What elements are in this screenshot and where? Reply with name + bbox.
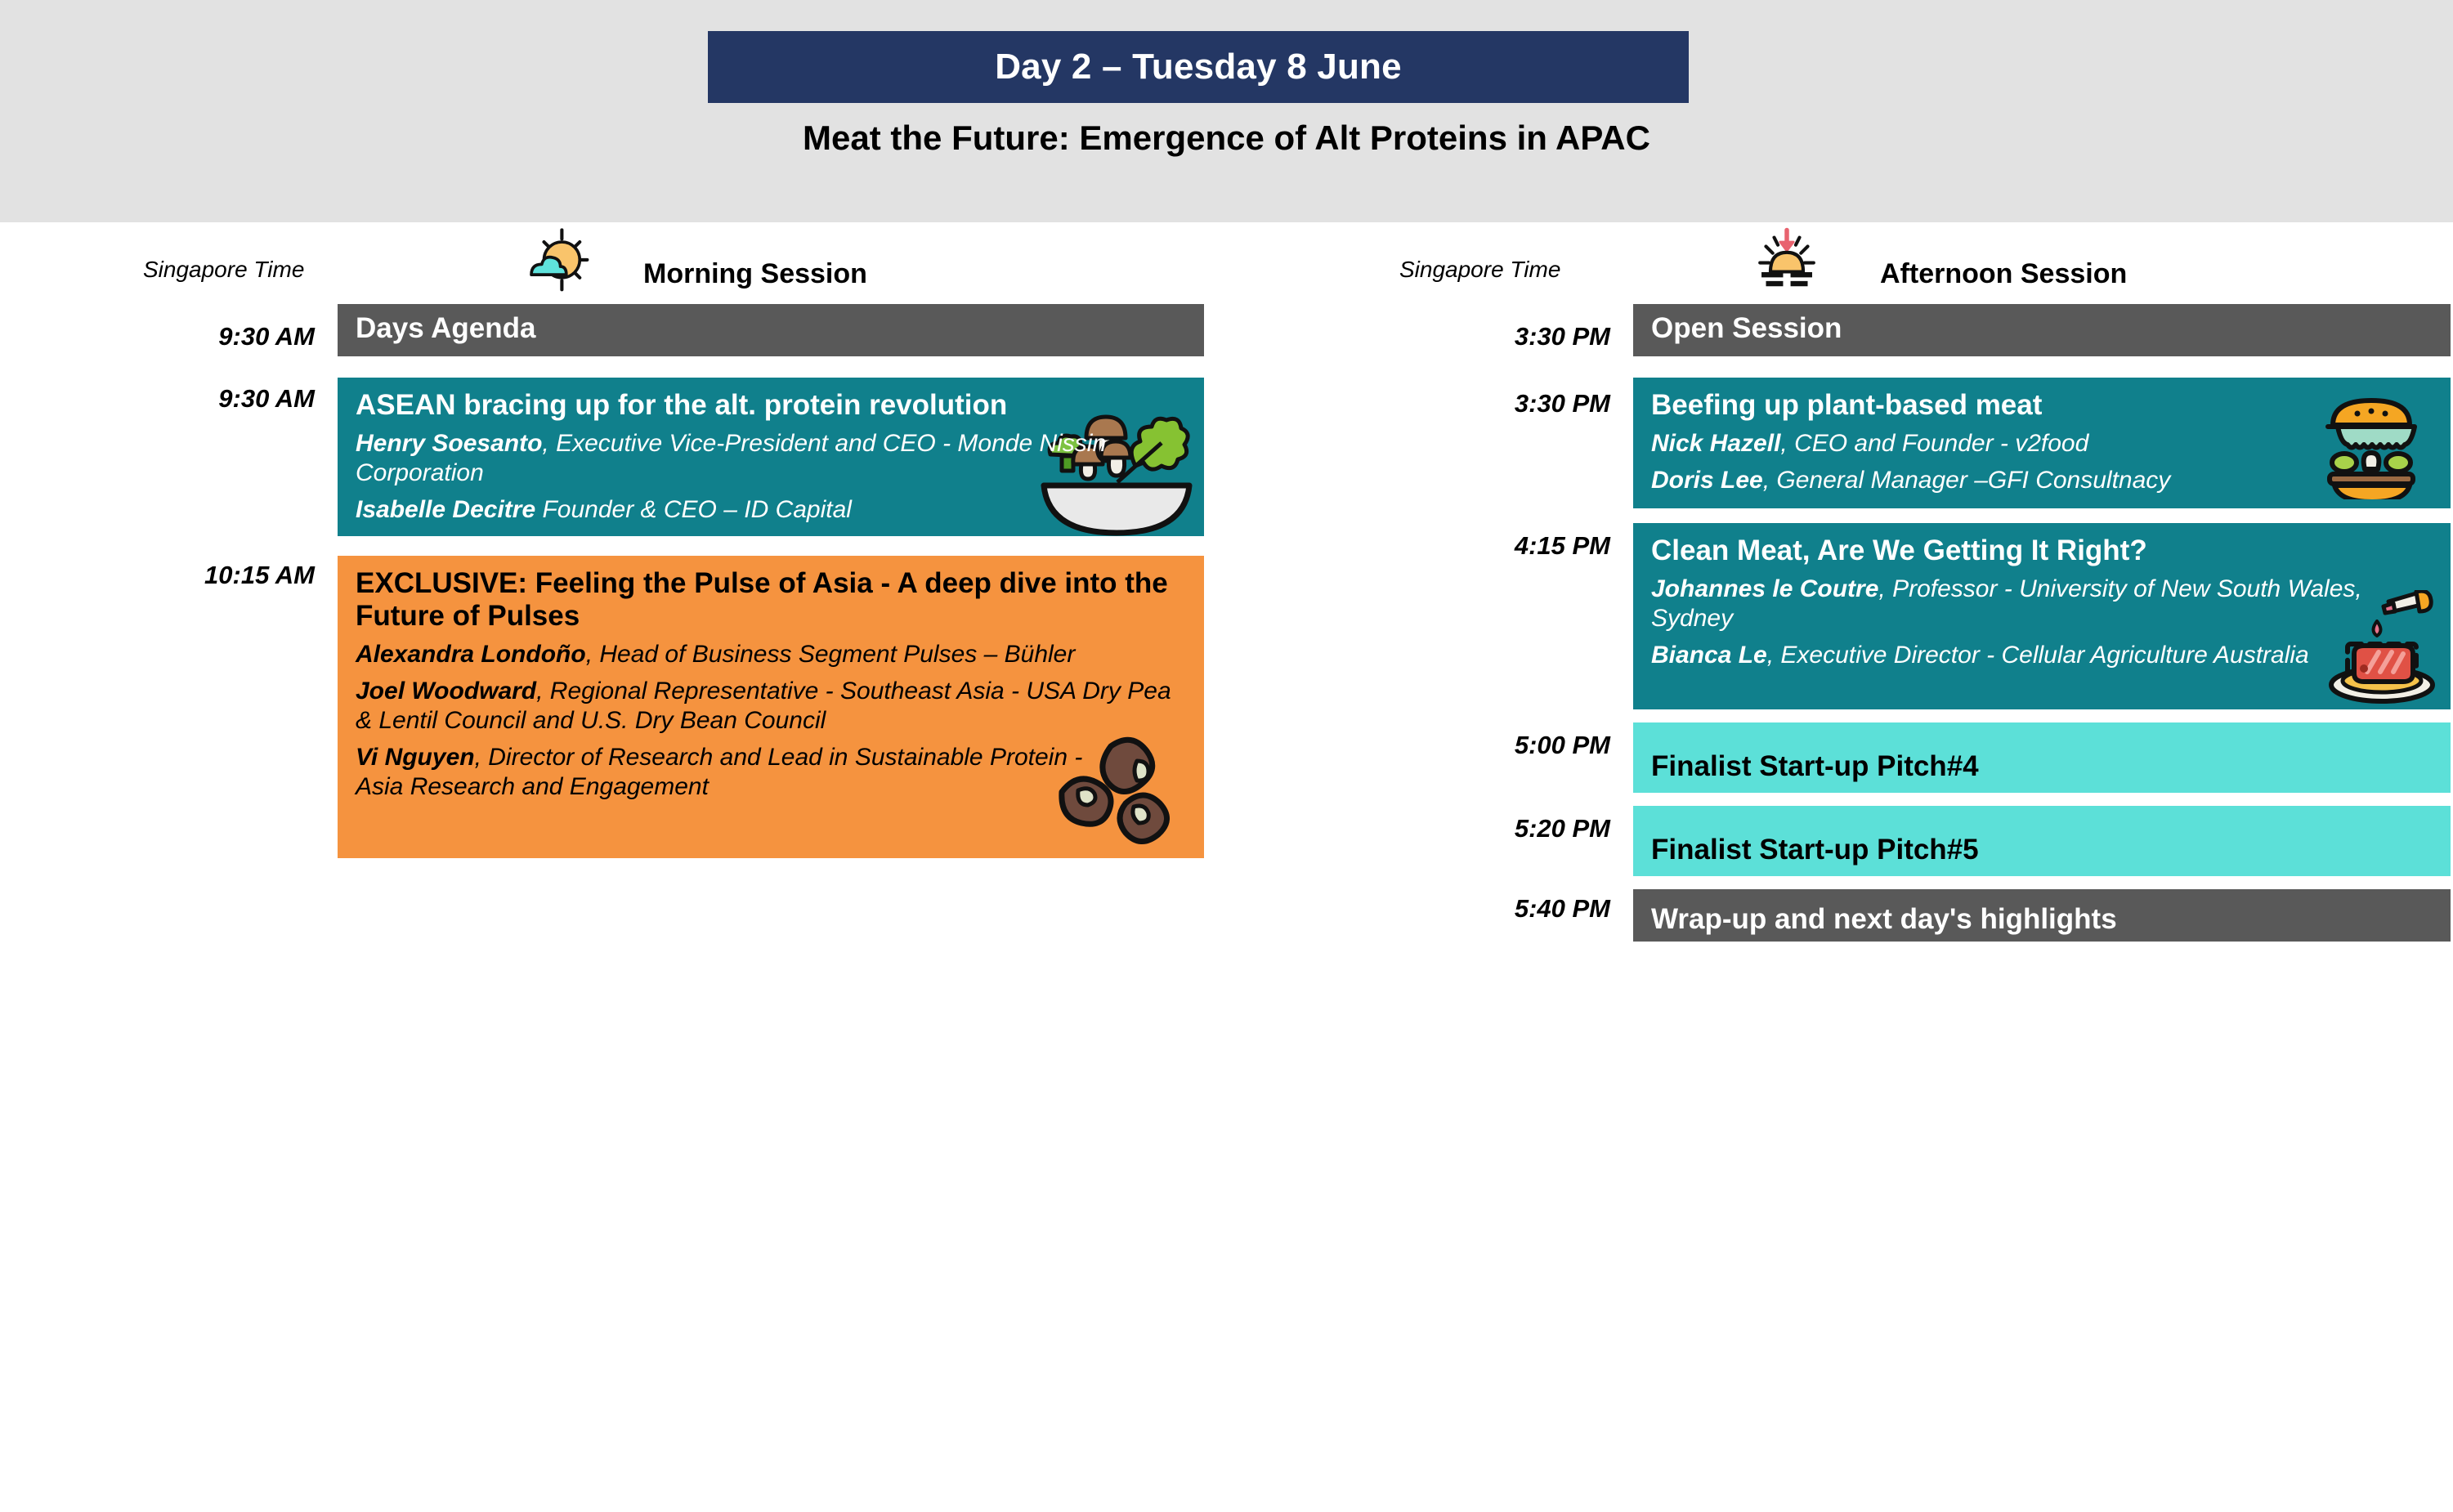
afternoon-session-header: Singapore Time Aftern xyxy=(1226,222,2453,304)
speaker-name: Alexandra Londoño xyxy=(356,641,586,668)
speaker-name: Henry Soesanto xyxy=(356,430,542,457)
session-block[interactable]: Finalist Start-up Pitch#5 xyxy=(1633,806,2451,876)
session-title: ASEAN bracing up for the alt. protein re… xyxy=(356,389,1186,422)
morning-session-header: Singapore Time Morning Session xyxy=(0,222,1226,304)
agenda-row[interactable]: 9:30 AM ASEAN bracing up for the alt. pr… xyxy=(0,378,1226,536)
afternoon-rows: 3:30 PM Open Session 3:30 PM Beefing up … xyxy=(1226,304,2453,948)
speaker-name: Isabelle Decitre xyxy=(356,496,535,523)
session-block[interactable]: Beefing up plant-based meat Nick Hazell,… xyxy=(1633,378,2451,508)
speaker-role: , CEO and Founder - v2food xyxy=(1780,430,2088,457)
session-block[interactable]: EXCLUSIVE: Feeling the Pulse of Asia - A… xyxy=(338,556,1204,858)
session-block[interactable]: ASEAN bracing up for the alt. protein re… xyxy=(338,378,1204,536)
agenda-row[interactable]: 5:40 PM Wrap-up and next day's highlight… xyxy=(1226,889,2453,948)
session-title: Finalist Start-up Pitch#4 xyxy=(1651,750,1979,783)
session-title: Finalist Start-up Pitch#5 xyxy=(1651,834,1979,866)
agenda-row[interactable]: 10:15 AM EXCLUSIVE: Feeling the Pulse of… xyxy=(0,556,1226,858)
session-title: Clean Meat, Are We Getting It Right? xyxy=(1651,535,2433,567)
row-time: 10:15 AM xyxy=(0,561,315,590)
agenda-row[interactable]: 9:30 AM Days Agenda xyxy=(0,304,1226,361)
speaker-name: Vi Nguyen xyxy=(356,744,475,771)
session-title: EXCLUSIVE: Feeling the Pulse of Asia - A… xyxy=(356,567,1186,633)
row-time: 9:30 AM xyxy=(0,322,315,351)
speaker-line: Bianca Le, Executive Director - Cellular… xyxy=(1651,641,2433,670)
speaker-name: Joel Woodward xyxy=(356,678,536,705)
row-time: 5:20 PM xyxy=(1226,814,1610,843)
timezone-label: Singapore Time xyxy=(143,257,304,283)
row-time: 9:30 AM xyxy=(0,384,315,414)
day-banner-label: Day 2 – Tuesday 8 June xyxy=(995,47,1402,87)
agenda-row[interactable]: 5:20 PM Finalist Start-up Pitch#5 xyxy=(1226,806,2453,876)
agenda-row[interactable]: 4:15 PM Clean Meat, Are We Getting It Ri… xyxy=(1226,523,2453,709)
row-time: 4:15 PM xyxy=(1226,531,1610,561)
speaker-line: Isabelle Decitre Founder & CEO – ID Capi… xyxy=(356,495,1186,525)
session-title: Beefing up plant-based meat xyxy=(1651,389,2433,422)
timezone-label: Singapore Time xyxy=(1399,257,1560,283)
afternoon-column: Singapore Time Aftern xyxy=(1226,222,2453,961)
sunset-icon xyxy=(1749,226,1824,293)
session-block[interactable]: Clean Meat, Are We Getting It Right? Joh… xyxy=(1633,523,2451,709)
speaker-name: Johannes le Coutre xyxy=(1651,575,1878,602)
session-block[interactable]: Finalist Start-up Pitch#4 xyxy=(1633,722,2451,793)
row-time: 3:30 PM xyxy=(1226,322,1610,351)
speaker-role: , Head of Business Segment Pulses – Bühl… xyxy=(586,641,1076,668)
speaker-role: Founder & CEO – ID Capital xyxy=(535,496,852,523)
speaker-name: Doris Lee xyxy=(1651,467,1763,494)
speaker-line: Henry Soesanto, Executive Vice-President… xyxy=(356,429,1186,488)
speaker-line: Vi Nguyen, Director of Research and Lead… xyxy=(356,743,1186,802)
speaker-line: Johannes le Coutre, Professor - Universi… xyxy=(1651,575,2433,633)
session-block[interactable]: Open Session xyxy=(1633,304,2451,356)
session-block[interactable]: Days Agenda xyxy=(338,304,1204,356)
speaker-role: , Executive Director - Cellular Agricult… xyxy=(1767,642,2309,669)
day-banner: Day 2 – Tuesday 8 June xyxy=(708,31,1689,103)
speaker-line: Nick Hazell, CEO and Founder - v2food xyxy=(1651,429,2433,459)
speaker-line: Joel Woodward, Regional Representative -… xyxy=(356,677,1186,736)
agenda-row[interactable]: 3:30 PM Beefing up plant-based meat Nick… xyxy=(1226,378,2453,508)
session-block[interactable]: Wrap-up and next day's highlights xyxy=(1633,889,2451,942)
speaker-role: , General Manager –GFI Consultnacy xyxy=(1763,467,2171,494)
row-time: 5:40 PM xyxy=(1226,894,1610,924)
morning-rows: 9:30 AM Days Agenda 9:30 AM ASEAN bracin… xyxy=(0,304,1226,858)
row-time: 3:30 PM xyxy=(1226,389,1610,418)
session-title: Wrap-up and next day's highlights xyxy=(1651,903,2117,936)
session-title: Open Session xyxy=(1651,312,1842,345)
session-name: Afternoon Session xyxy=(1880,258,2127,290)
speaker-name: Nick Hazell xyxy=(1651,430,1780,457)
agenda-row[interactable]: 5:00 PM Finalist Start-up Pitch#4 xyxy=(1226,722,2453,793)
event-title: Meat the Future: Emergence of Alt Protei… xyxy=(0,119,2453,158)
session-title: Days Agenda xyxy=(356,312,535,345)
speaker-line: Doris Lee, General Manager –GFI Consultn… xyxy=(1651,466,2433,495)
speaker-name: Bianca Le xyxy=(1651,642,1767,669)
morning-column: Singapore Time Morning Session 9:30 AM xyxy=(0,222,1226,871)
agenda-row[interactable]: 3:30 PM Open Session xyxy=(1226,304,2453,361)
session-name: Morning Session xyxy=(643,258,867,290)
sun-cloud-icon xyxy=(519,226,594,293)
speaker-line: Alexandra Londoño, Head of Business Segm… xyxy=(356,640,1186,669)
row-time: 5:00 PM xyxy=(1226,731,1610,760)
